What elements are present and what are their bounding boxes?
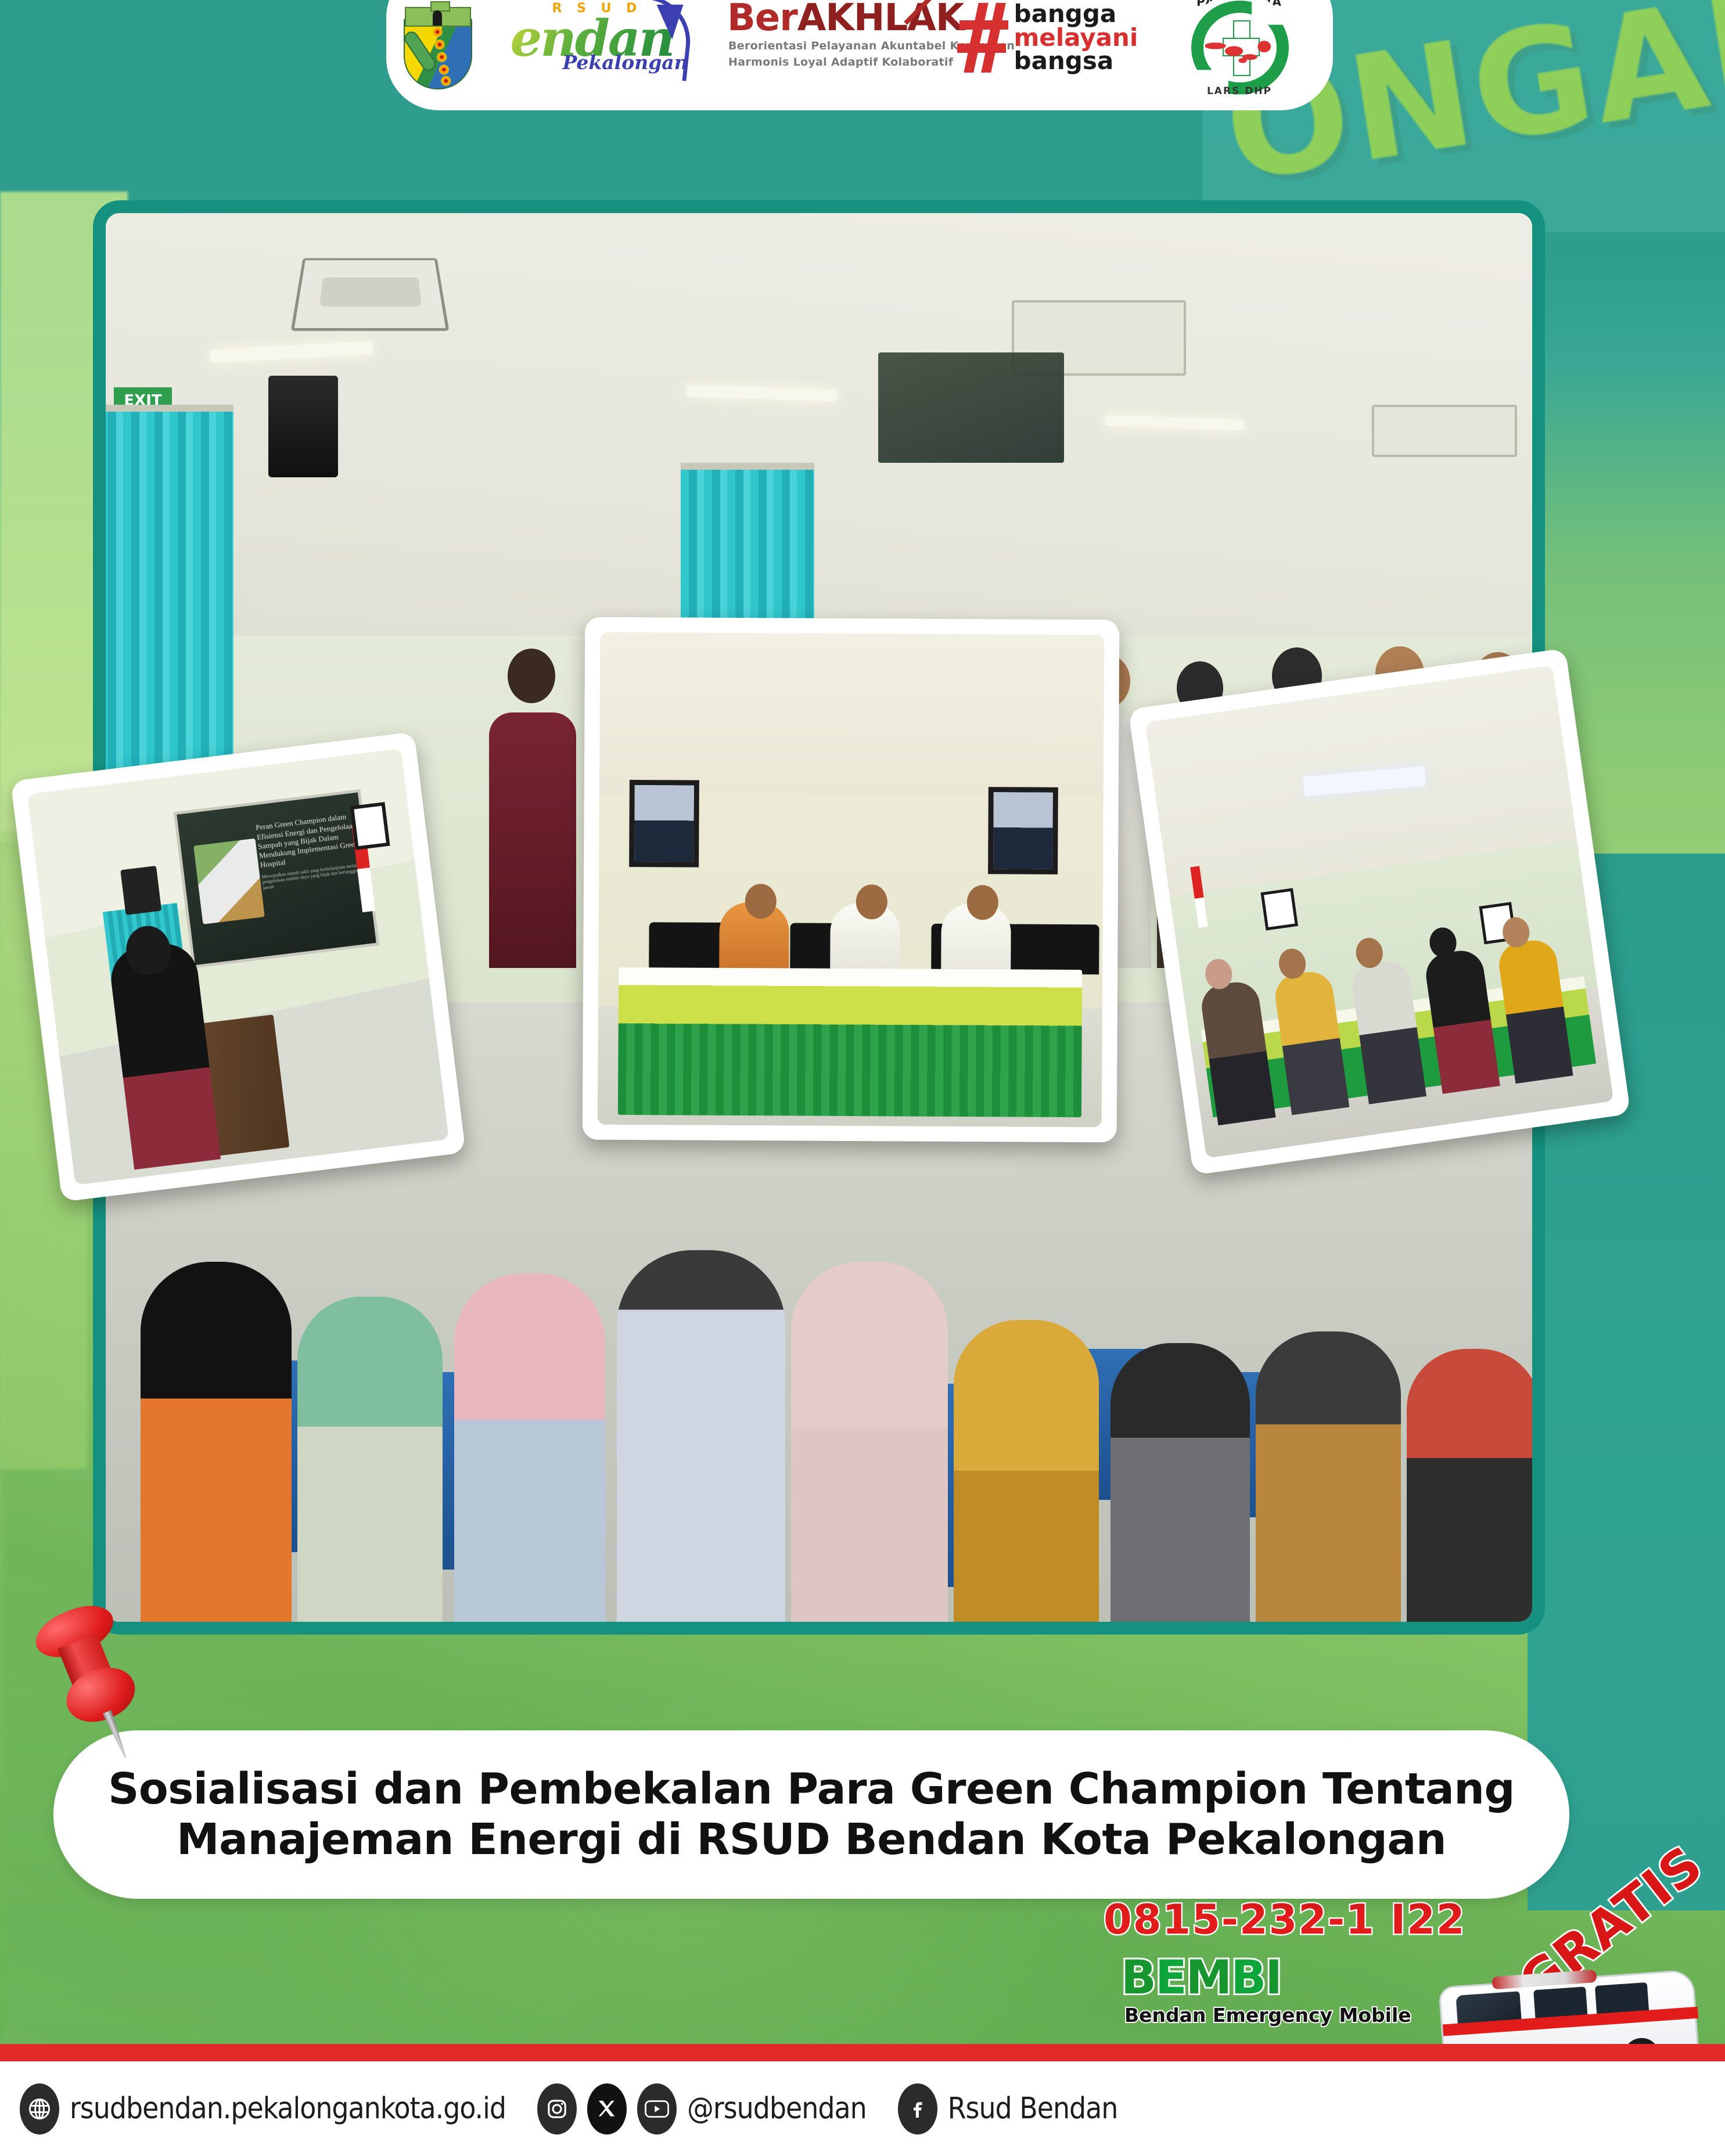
bembi-subtitle: Bendan Emergency Mobile (1124, 2004, 1411, 2027)
akreditasi-paripurna-logo: ★ ★ ★ ★ ★ PARIPURNA LARS DHP (1178, 0, 1318, 109)
bangga-word-2: melayani (1014, 26, 1138, 50)
presenter-photo: Peran Green Champion dalam Efisiensi Ene… (10, 732, 466, 1202)
x-twitter-icon[interactable] (587, 2083, 627, 2135)
presentation-screen: Peran Green Champion dalam Efisiensi Ene… (174, 789, 380, 969)
head-table (618, 967, 1083, 1118)
caption-line-1: Sosialisasi dan Pembekalan Para Green Ch… (108, 1764, 1515, 1815)
bembi-logo: BEMBI (1121, 1950, 1281, 2004)
bangga-word-3: bangsa (1014, 49, 1138, 73)
youtube-icon[interactable] (637, 2083, 677, 2135)
wall-speaker (120, 866, 161, 915)
official-portrait (988, 787, 1058, 874)
caption-banner: Sosialisasi dan Pembekalan Para Green Ch… (53, 1730, 1569, 1899)
bembi-letter-m: M (1186, 1950, 1231, 2004)
bembi-letter-b: B (1121, 1950, 1155, 2004)
bangga-melayani-bangsa-logo: bangga melayani bangsa (957, 0, 1149, 89)
berakhlak-tagline-line2: Harmonis Loyal Adaptif Kolaboratif (728, 56, 953, 69)
footer-bar: rsudbendan.pekalongankota.go.id @rsudben… (0, 2061, 1725, 2156)
pekalongan-city-crest (404, 0, 472, 89)
hashtag-icon (957, 3, 1011, 73)
bembi-phone-number[interactable]: 0815-232-1 I22 (1104, 1896, 1466, 1943)
projection-screen (878, 352, 1064, 463)
website-link[interactable]: rsudbendan.pekalongankota.go.id (20, 2083, 506, 2135)
globe-icon (20, 2083, 59, 2135)
facebook-page-name: Rsud Bendan (948, 2092, 1118, 2126)
footer-red-stripe (0, 2044, 1725, 2061)
official-portrait (1260, 888, 1298, 931)
facebook-link[interactable]: Rsud Bendan (898, 2083, 1118, 2135)
berakhlak-ber: Ber (727, 0, 797, 39)
berakhlak-akhlak: AKHLAK (797, 0, 964, 39)
caption-line-2: Manajeman Energi di RSUD Bendan Kota Pek… (177, 1815, 1446, 1865)
bembi-letter-i: I (1265, 1950, 1281, 2004)
slide-title: Peran Green Champion dalam Efisiensi Ene… (255, 812, 358, 870)
header-logo-card: R S U D endan Pekalongan BerAKHLAK Beror… (386, 0, 1333, 110)
bembi-letter-b2: B (1231, 1950, 1265, 2004)
ceiling-ac-unit (1372, 405, 1517, 457)
panel-table-photo (583, 617, 1120, 1143)
wall-speaker (268, 376, 338, 477)
official-portrait (350, 802, 390, 850)
bangga-word-1: bangga (1014, 2, 1138, 26)
official-portrait (629, 780, 699, 868)
ceiling-projector (291, 258, 450, 331)
bembi-letter-e: E (1155, 1950, 1186, 2004)
group-photo (1128, 648, 1630, 1175)
indonesia-map-icon (1205, 32, 1277, 67)
facebook-icon (898, 2083, 937, 2135)
lars-dhp-label: LARS DHP (1178, 85, 1300, 97)
social-handle: @rsudbendan (687, 2092, 867, 2126)
poster-root: ONGAN R S U D endan (0, 0, 1725, 2156)
berakhlak-logo: BerAKHLAK Berorientasi Pelayanan Akuntab… (724, 0, 927, 87)
instagram-icon[interactable] (537, 2083, 577, 2135)
website-url: rsudbendan.pekalongankota.go.id (70, 2092, 506, 2126)
rsud-bendan-logo: R S U D endan Pekalongan (502, 0, 694, 87)
